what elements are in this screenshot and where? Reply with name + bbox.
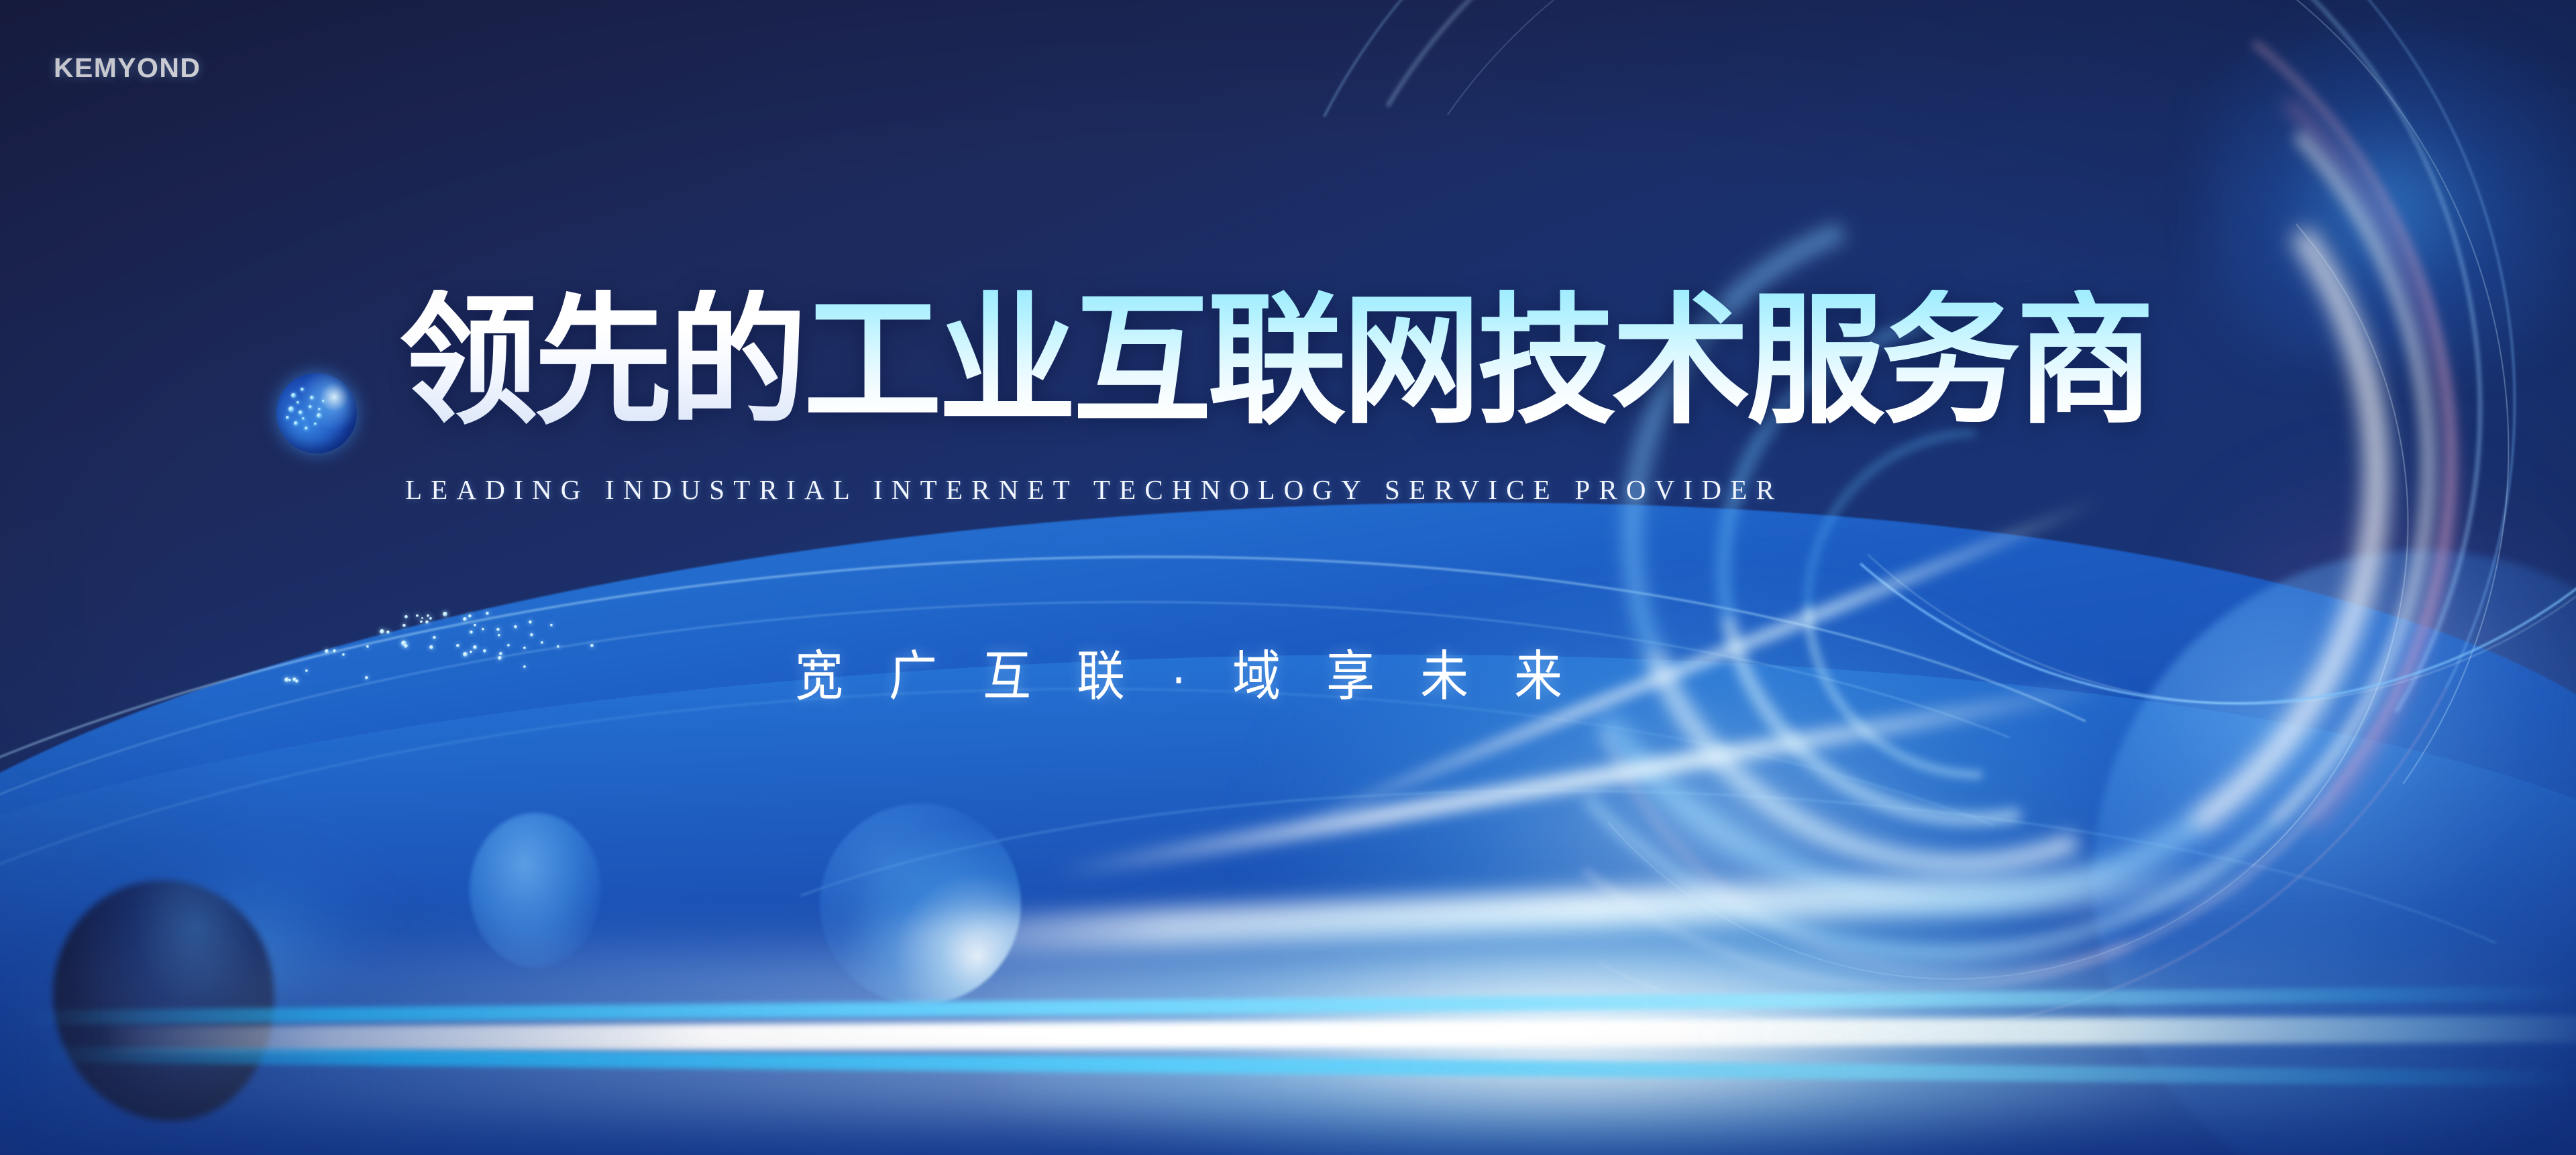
translucent-sphere-right [820, 804, 1021, 1005]
wave-crest-line-1 [0, 466, 2382, 1155]
glass-orb-icon [276, 373, 357, 453]
swirl-ribbon-1 [1091, 0, 2576, 1155]
wave-body-upper [0, 428, 2576, 1155]
swirl-ribbon-3 [1329, 0, 2508, 1046]
lower-left-glow [0, 791, 805, 1155]
swirl-ribbon-inner-1 [1516, 94, 2402, 979]
light-streak-upper [859, 863, 2268, 960]
page-subtitle: LEADING INDUSTRIAL INTERNET TECHNOLOGY S… [405, 474, 1783, 506]
cyan-streak-top [27, 986, 2576, 1025]
vignette-overlay [0, 0, 2576, 1155]
headline-segment-industrial-internet: 工业互联网技术服务商 [804, 290, 2151, 432]
page-title: 领先的工业互联网技术服务商 [399, 290, 2151, 432]
swirl-hairline-1 [1249, 0, 2576, 1125]
dark-sphere-glow [75, 812, 401, 1060]
wave-crest-line-4 [596, 763, 2576, 1155]
light-beam-halo [0, 952, 2576, 1120]
swirl-ribbon-2 [1176, 0, 2576, 1125]
wave-crest-line-2 [0, 527, 2349, 1155]
translucent-sphere-left [470, 813, 601, 967]
brand-tagline: 宽 广 互 联 · 域 享 未 来 [795, 632, 1578, 711]
headline-segment-leading: 领先的 [399, 290, 804, 432]
large-blue-sphere [2093, 550, 2576, 1155]
core-light-burst [1006, 892, 2180, 1155]
pink-haze-glow [2200, 456, 2576, 1060]
wave-crest-line-3 [0, 641, 2284, 1155]
cyan-streak-bottom [40, 1046, 2576, 1087]
main-light-beam [101, 1015, 2576, 1053]
particle-field [0, 0, 2576, 1155]
dark-sphere-bottom-left [38, 866, 291, 1136]
brand-logo[interactable]: KEMYOND [54, 52, 201, 84]
swirl-ribbon-pink-inner [1448, 53, 2496, 1101]
hero-banner: KEMYOND 领先的工业互联网技术服务商 LEADING INDUSTRIAL… [0, 0, 2576, 1155]
top-right-glow [2200, 7, 2576, 369]
swirl-hairline-2 [1465, 36, 2439, 1010]
